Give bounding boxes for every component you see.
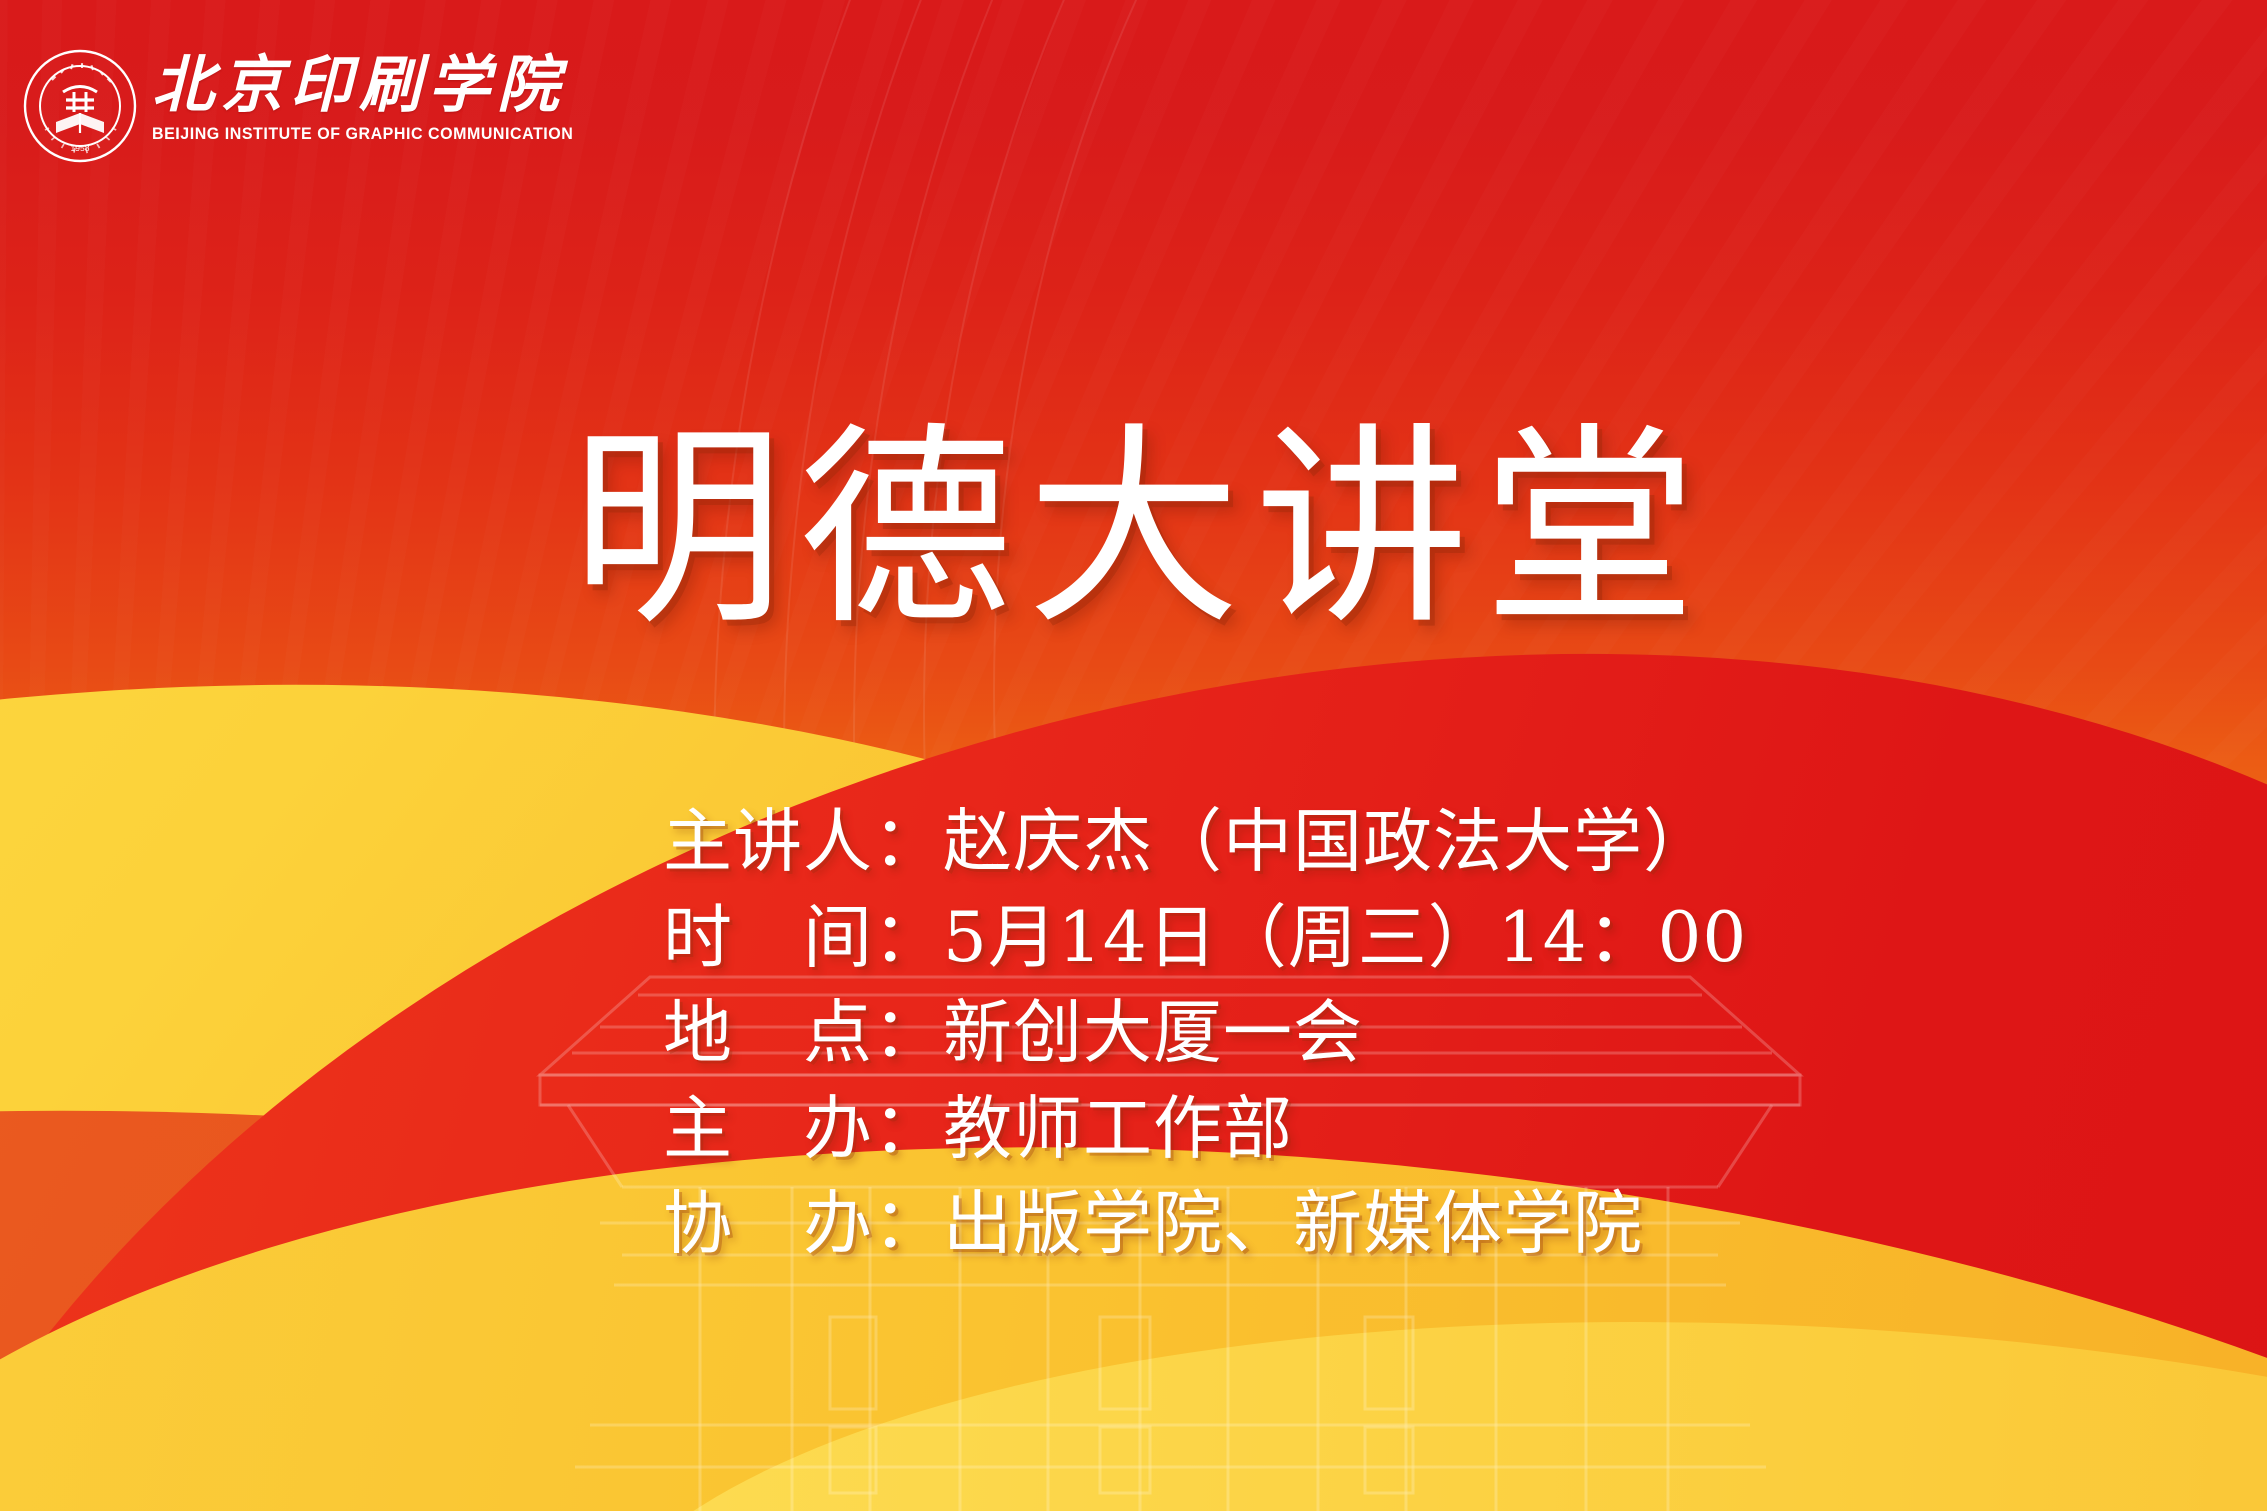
detail-line-time: 时 间：5月14日（周三）14：00 [663, 891, 1747, 987]
bigc-seal-icon: 1958 [22, 48, 138, 164]
yellow-wave-shape [532, 1240, 2267, 1511]
detail-line-coorganizer: 协 办：出版学院、新媒体学院 [663, 1177, 1747, 1273]
concentric-arcs-icon [783, 0, 2267, 1511]
university-name-en: BEIJING INSTITUTE OF GRAPHIC COMMUNICATI… [152, 125, 573, 144]
event-details: 主讲人：赵庆杰（中国政法大学） 时 间：5月14日（周三）14：00 地 点：新… [663, 795, 1747, 1273]
detail-line-location: 地 点：新创大厦一会 [663, 986, 1747, 1082]
concentric-arcs-icon [993, 0, 2267, 1511]
concentric-arcs-icon [713, 0, 2267, 1511]
concentric-arcs-icon [853, 0, 2267, 1511]
concentric-arcs-icon [923, 0, 2267, 1511]
detail-line-organizer: 主 办：教师工作部 [663, 1082, 1747, 1178]
poster-title-text: 明德大讲堂 [557, 405, 1711, 654]
radial-rays-icon [0, 0, 2267, 1511]
poster-canvas: 1958 北京印刷学院 BEIJING INSTITUTE OF GRAPHIC… [0, 0, 2267, 1511]
university-name-cn: 北京印刷学院 [152, 54, 586, 116]
poster-title: 明德大讲堂 [0, 418, 2267, 643]
university-logo: 1958 北京印刷学院 BEIJING INSTITUTE OF GRAPHIC… [22, 48, 586, 164]
detail-line-speaker: 主讲人：赵庆杰（中国政法大学） [663, 795, 1747, 891]
svg-text:1958: 1958 [71, 143, 90, 153]
